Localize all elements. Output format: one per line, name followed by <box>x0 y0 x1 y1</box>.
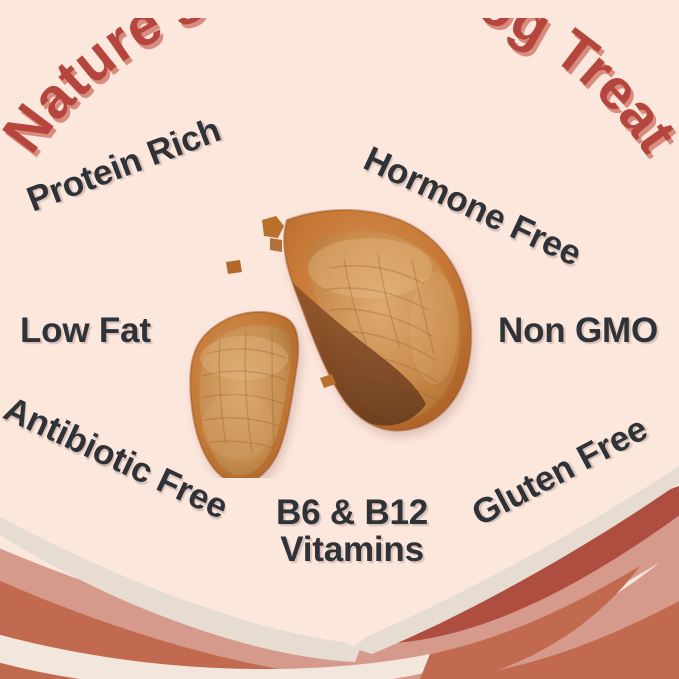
feature-label-vitamins-line2: Vitamins <box>276 531 428 568</box>
page-title-main: Nature's Perfect Dog Treat <box>0 18 679 164</box>
deco-terracotta-layer <box>0 572 679 679</box>
crumb-2 <box>270 238 282 252</box>
deco-cream-sliver <box>0 562 660 679</box>
feature-label-non-gmo: Non GMO <box>498 312 658 349</box>
page-title-textpath: Nature's Perfect Dog Treat <box>0 18 679 164</box>
deco-terracotta-arrowhead <box>420 566 640 679</box>
product-image-broken-dog-treat <box>170 198 500 478</box>
product-infographic-image: Nature's Perfect Dog Treat Nature's Perf… <box>0 0 679 679</box>
crumb-3 <box>226 260 242 274</box>
feature-label-low-fat: Low Fat <box>20 312 151 349</box>
feature-label-vitamins-line1: B6 & B12 <box>276 494 428 531</box>
crumb-1 <box>262 216 284 238</box>
feature-label-vitamins: B6 & B12 Vitamins <box>276 494 428 568</box>
